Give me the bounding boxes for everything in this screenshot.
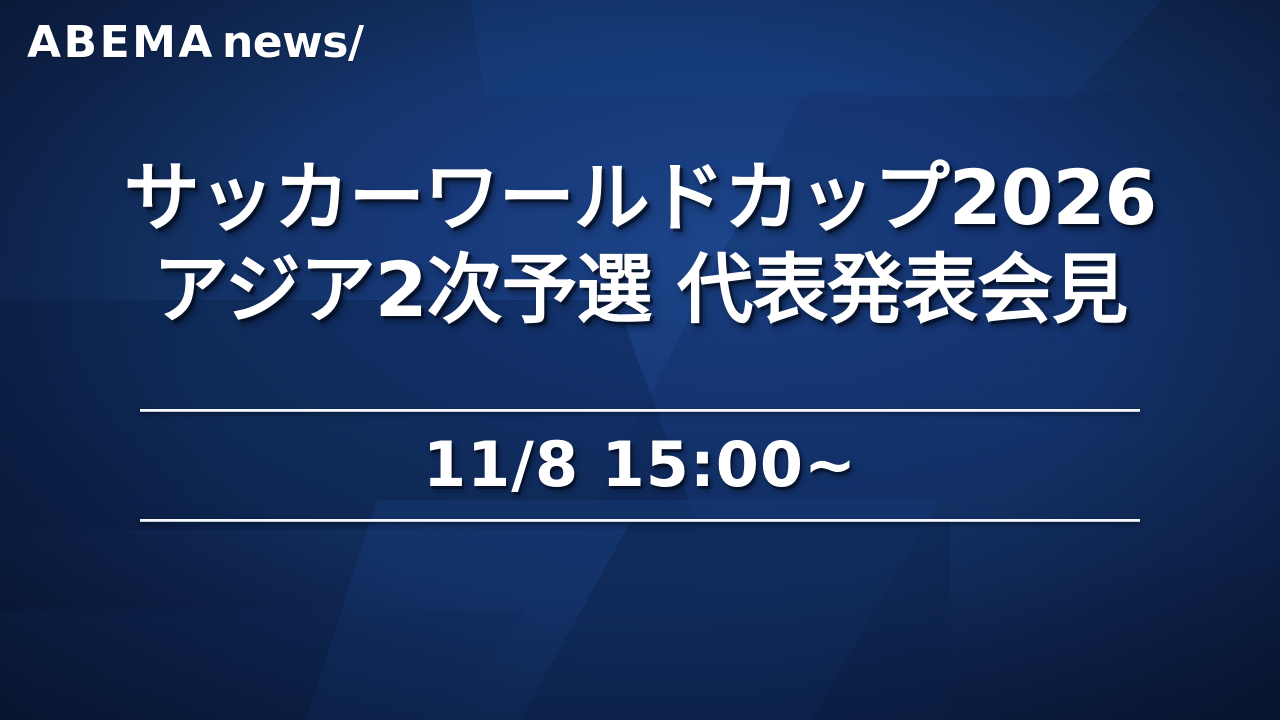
program-title-line-2: アジア2次予選 代表発表会見 xyxy=(0,244,1280,336)
broadcast-title-card: ABEMAnews/ サッカーワールドカップ2026 アジア2次予選 代表発表会… xyxy=(0,0,1280,720)
broadcast-datetime: 11/8 15:00~ xyxy=(0,425,1280,505)
program-title-line-1: サッカーワールドカップ2026 xyxy=(0,152,1280,244)
divider-bottom xyxy=(140,519,1140,522)
divider-top xyxy=(140,409,1140,412)
program-title: サッカーワールドカップ2026 アジア2次予選 代表発表会見 xyxy=(0,152,1280,336)
title-card-content: サッカーワールドカップ2026 アジア2次予選 代表発表会見 11/8 15:0… xyxy=(0,0,1280,720)
